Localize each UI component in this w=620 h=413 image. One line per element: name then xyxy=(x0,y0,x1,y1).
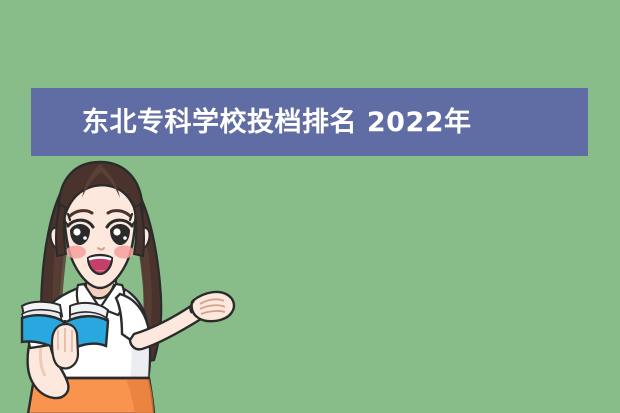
student-girl-illustration xyxy=(8,158,248,413)
blush-right xyxy=(114,246,134,259)
page-title: 东北专科学校投档排名 2022年 xyxy=(82,109,472,136)
student-girl-svg xyxy=(8,158,248,413)
title-banner: 东北专科学校投档排名 2022年 xyxy=(31,88,588,156)
figure-group xyxy=(22,162,234,413)
left-hand xyxy=(52,324,78,368)
blush-left xyxy=(66,246,86,259)
screenshot-canvas: 东北专科学校投档排名 2022年 xyxy=(0,0,620,413)
right-arm-presenting xyxy=(116,292,234,349)
